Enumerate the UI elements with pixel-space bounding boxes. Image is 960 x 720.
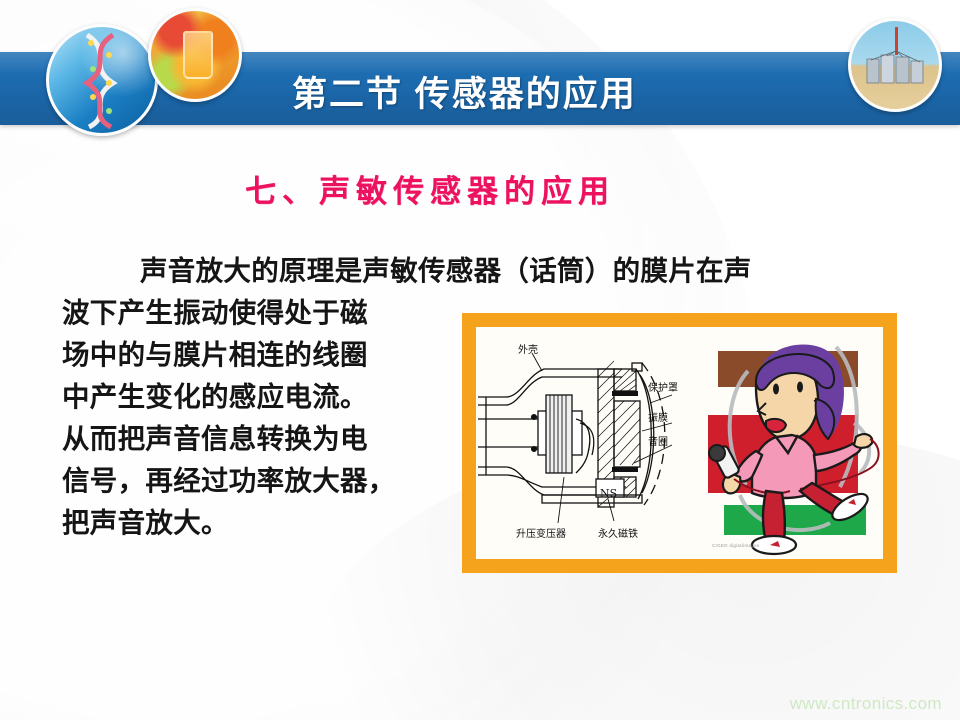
cartoon-singer-illustration [704, 327, 883, 559]
body-line: 波下产生振动使得处于磁 [62, 292, 447, 334]
diagram-label-protective-cover: 保护罩 [648, 379, 678, 394]
page-title: 第二节 传感器的应用 [292, 66, 637, 117]
diagram-label-magnet-poles: NS [600, 487, 617, 500]
dna-lab-photo [46, 24, 158, 136]
diagram-label-housing: 外壳 [518, 341, 538, 356]
illustration-credit: CIGED digitalimages [712, 543, 759, 548]
cartoon-singer-svg [704, 327, 883, 559]
body-line: 场中的与膜片相连的线圈 [62, 334, 447, 376]
grain-silo-photo [848, 18, 942, 112]
juice-glass-shape [183, 31, 213, 79]
figure-content: 外壳 保护罩 振膜 音圈 升压变压器 永久磁铁 NS [476, 327, 883, 559]
slide-canvas: 第二节 传感器的应用 七、声敏传感器的应用 声音放大的原理是声敏传感器（话筒）的… [0, 0, 960, 720]
body-line: 信号，再经过功率放大器， [62, 460, 447, 502]
section-heading: 七、声敏传感器的应用 [245, 166, 615, 211]
body-line: 把声音放大。 [62, 502, 447, 544]
microphone-diagram-svg [476, 327, 708, 559]
microphone-cross-section-diagram: 外壳 保护罩 振膜 音圈 升压变压器 永久磁铁 NS [476, 327, 708, 559]
silo-tanks-icon [865, 49, 927, 85]
diagram-label-permanent-magnet: 永久磁铁 [598, 525, 638, 540]
footer-watermark: www.cntronics.com [790, 694, 942, 714]
diagram-label-diaphragm: 振膜 [648, 409, 668, 424]
diagram-label-voice-coil: 音圈 [648, 433, 668, 448]
diagram-label-step-up-transformer: 升压变压器 [516, 525, 566, 540]
dna-helix-icon [79, 33, 125, 129]
body-line: 从而把声音信息转换为电 [62, 418, 447, 460]
fruit-juice-photo [148, 8, 242, 102]
body-line: 中产生变化的感应电流。 [62, 376, 447, 418]
body-line: 声音放大的原理是声敏传感器（话筒）的膜片在声 [62, 250, 882, 292]
figure-frame: 外壳 保护罩 振膜 音圈 升压变压器 永久磁铁 NS [462, 313, 897, 573]
